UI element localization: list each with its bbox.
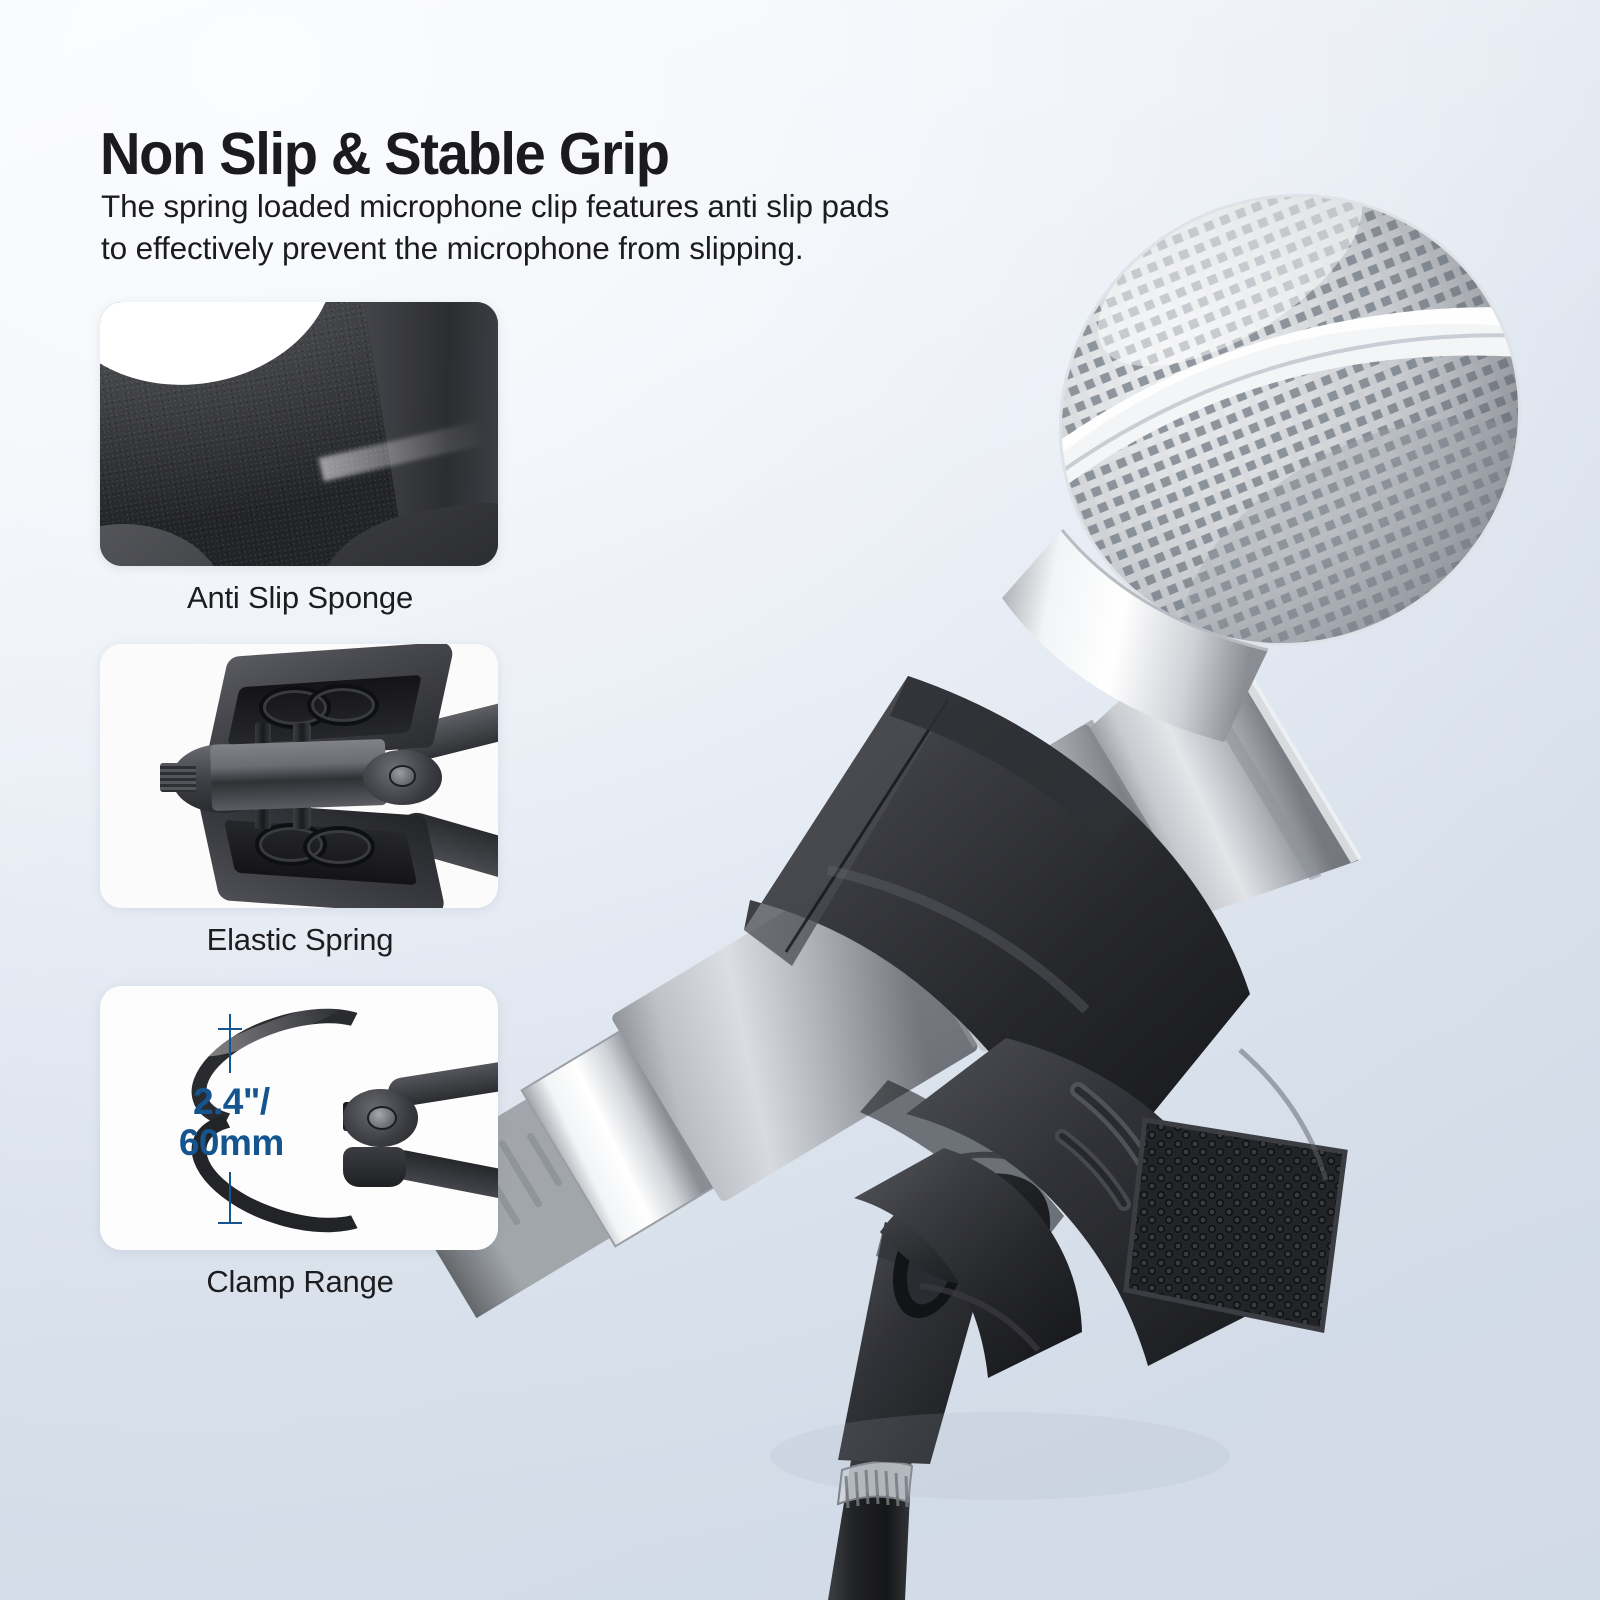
feature-caption-anti-slip-sponge: Anti Slip Sponge — [100, 580, 500, 616]
feature-caption-clamp-range: Clamp Range — [100, 1264, 500, 1300]
product-feature-banner: Non Slip & Stable Grip The spring loaded… — [0, 0, 1600, 1600]
clamp-dimension-inches: 2.4"/ — [193, 1081, 270, 1122]
microphone-grille-head — [978, 112, 1600, 775]
feature-card-elastic-spring: Elastic Spring — [100, 644, 500, 958]
page-subtitle: The spring loaded microphone clip featur… — [101, 186, 1061, 270]
anti-slip-sponge-thumbnail — [100, 302, 498, 566]
elastic-spring-thumbnail — [100, 644, 498, 908]
feature-card-list: Anti Slip Sponge — [100, 302, 500, 1328]
feature-card-anti-slip-sponge: Anti Slip Sponge — [100, 302, 500, 616]
clamp-range-thumbnail: 2.4"/ 60mm — [100, 986, 498, 1250]
clamp-dimension-label: 2.4"/ 60mm — [144, 1081, 319, 1164]
subtitle-line-2: to effectively prevent the microphone fr… — [101, 228, 1061, 270]
page-title: Non Slip & Stable Grip — [100, 124, 669, 186]
clamp-dimension-mm: 60mm — [179, 1122, 284, 1163]
subtitle-line-1: The spring loaded microphone clip featur… — [101, 186, 1061, 228]
feature-caption-elastic-spring: Elastic Spring — [100, 922, 500, 958]
feature-card-clamp-range: 2.4"/ 60mm Clamp Range — [100, 986, 500, 1300]
